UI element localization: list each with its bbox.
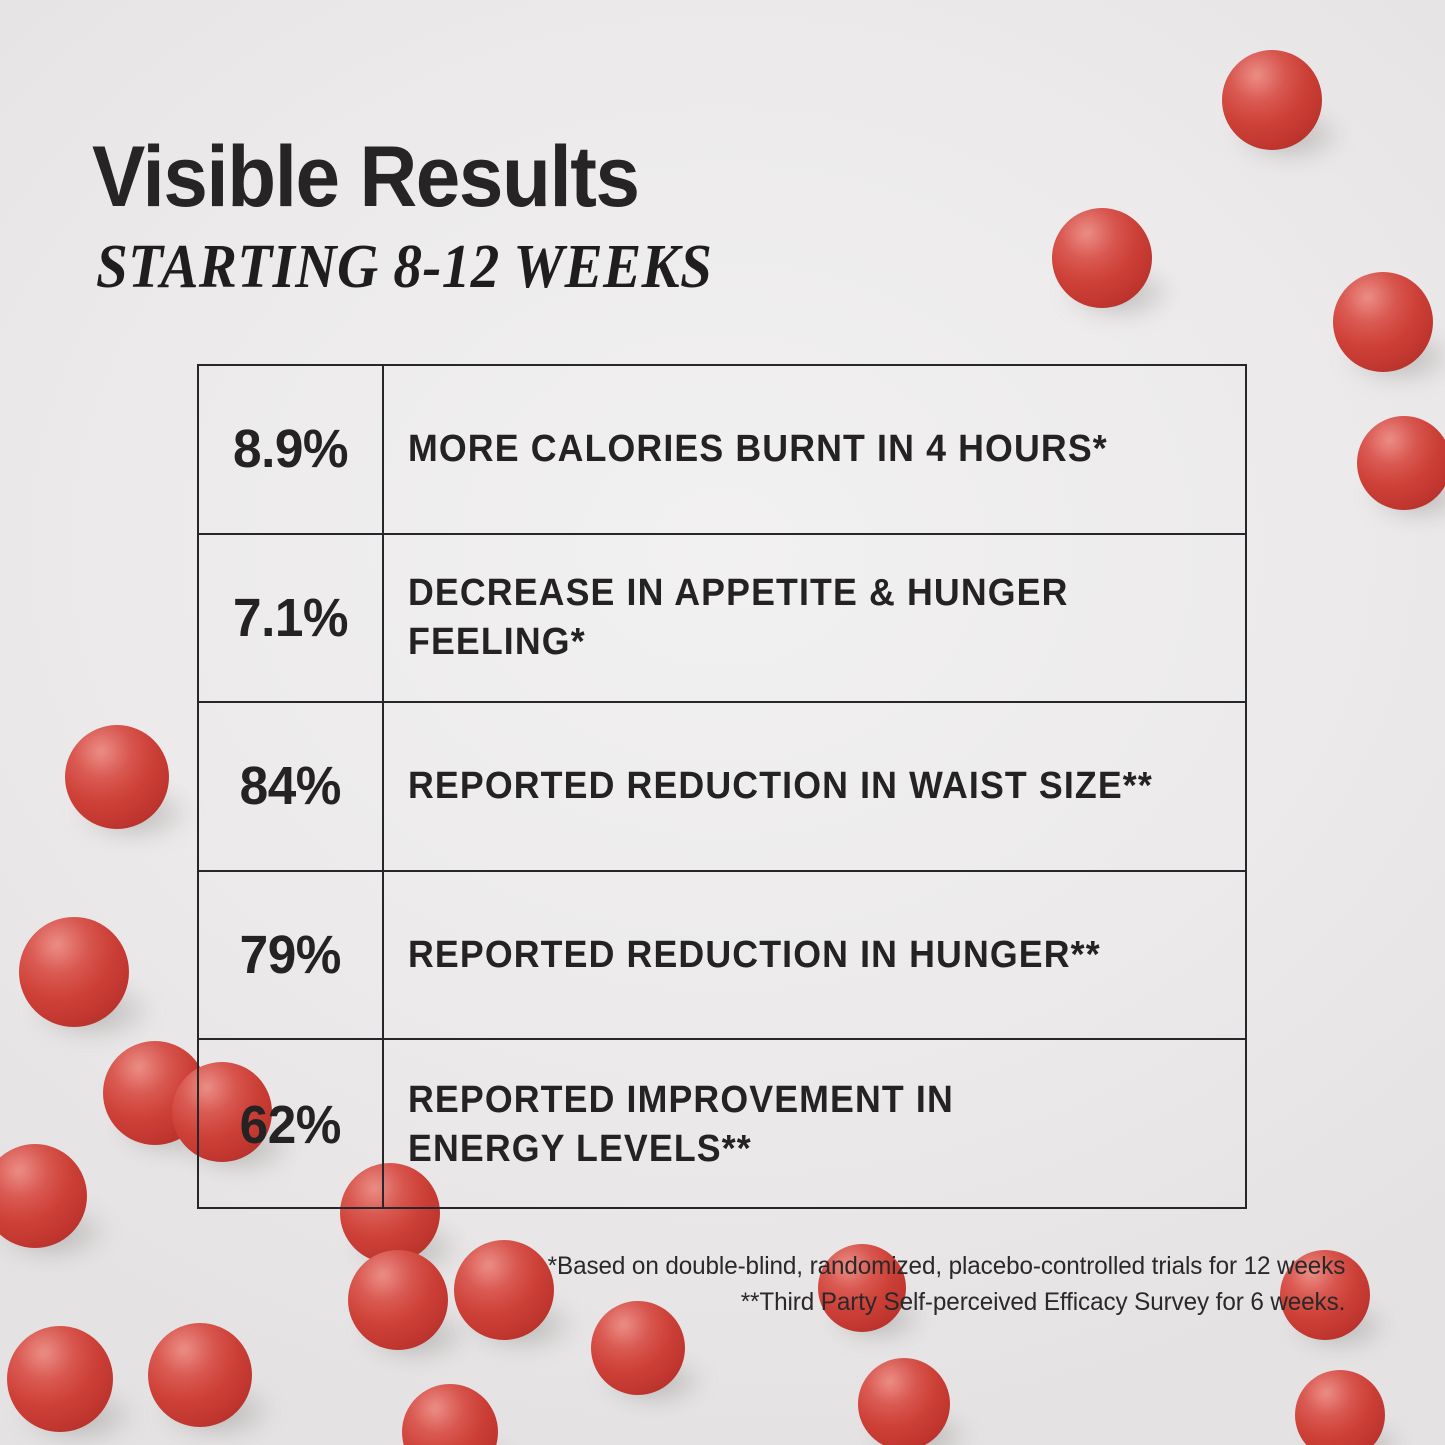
table-row: 84%REPORTED REDUCTION IN WAIST SIZE**	[199, 703, 1245, 872]
page-subtitle: STARTING 8-12 WEEKS	[96, 236, 712, 298]
stat-value: 79%	[199, 872, 384, 1039]
stat-value-text: 84%	[240, 755, 341, 817]
stat-label: MORE CALORIES BURNT IN 4 HOURS*	[384, 366, 1245, 533]
stat-label: REPORTED REDUCTION IN HUNGER**	[384, 872, 1245, 1039]
stat-label-text: DECREASE IN APPETITE & HUNGER FEELING*	[408, 569, 1182, 666]
page-title: Visible Results	[92, 134, 639, 220]
stat-label-text: MORE CALORIES BURNT IN 4 HOURS*	[408, 425, 1108, 474]
stat-label-text: REPORTED IMPROVEMENT IN ENERGY LEVELS**	[408, 1076, 954, 1173]
table-row: 7.1%DECREASE IN APPETITE & HUNGER FEELIN…	[199, 535, 1245, 704]
table-row: 8.9%MORE CALORIES BURNT IN 4 HOURS*	[199, 366, 1245, 535]
stat-label: REPORTED REDUCTION IN WAIST SIZE**	[384, 703, 1245, 870]
stat-value-text: 62%	[240, 1094, 341, 1156]
poster-canvas: Visible Results STARTING 8-12 WEEKS 8.9%…	[0, 0, 1445, 1445]
stat-label: DECREASE IN APPETITE & HUNGER FEELING*	[384, 535, 1245, 702]
stat-label: REPORTED IMPROVEMENT IN ENERGY LEVELS**	[384, 1040, 1245, 1209]
stat-value-text: 8.9%	[233, 418, 348, 480]
stat-value-text: 79%	[240, 924, 341, 986]
poster-content: Visible Results STARTING 8-12 WEEKS 8.9%…	[0, 0, 1445, 1445]
footnote-line-2: **Third Party Self-perceived Efficacy Su…	[547, 1284, 1345, 1320]
table-row: 79%REPORTED REDUCTION IN HUNGER**	[199, 872, 1245, 1041]
footnotes: *Based on double-blind, randomized, plac…	[523, 1248, 1345, 1321]
stat-value: 8.9%	[199, 366, 384, 533]
stat-value: 7.1%	[199, 535, 384, 702]
stat-label-text: REPORTED REDUCTION IN HUNGER**	[408, 931, 1101, 980]
stat-label-text: REPORTED REDUCTION IN WAIST SIZE**	[408, 762, 1153, 811]
stat-value-text: 7.1%	[233, 587, 348, 649]
results-table: 8.9%MORE CALORIES BURNT IN 4 HOURS*7.1%D…	[197, 364, 1247, 1209]
table-row: 62%REPORTED IMPROVEMENT IN ENERGY LEVELS…	[199, 1040, 1245, 1209]
stat-value: 62%	[199, 1040, 384, 1209]
footnote-line-1: *Based on double-blind, randomized, plac…	[547, 1248, 1345, 1284]
stat-value: 84%	[199, 703, 384, 870]
